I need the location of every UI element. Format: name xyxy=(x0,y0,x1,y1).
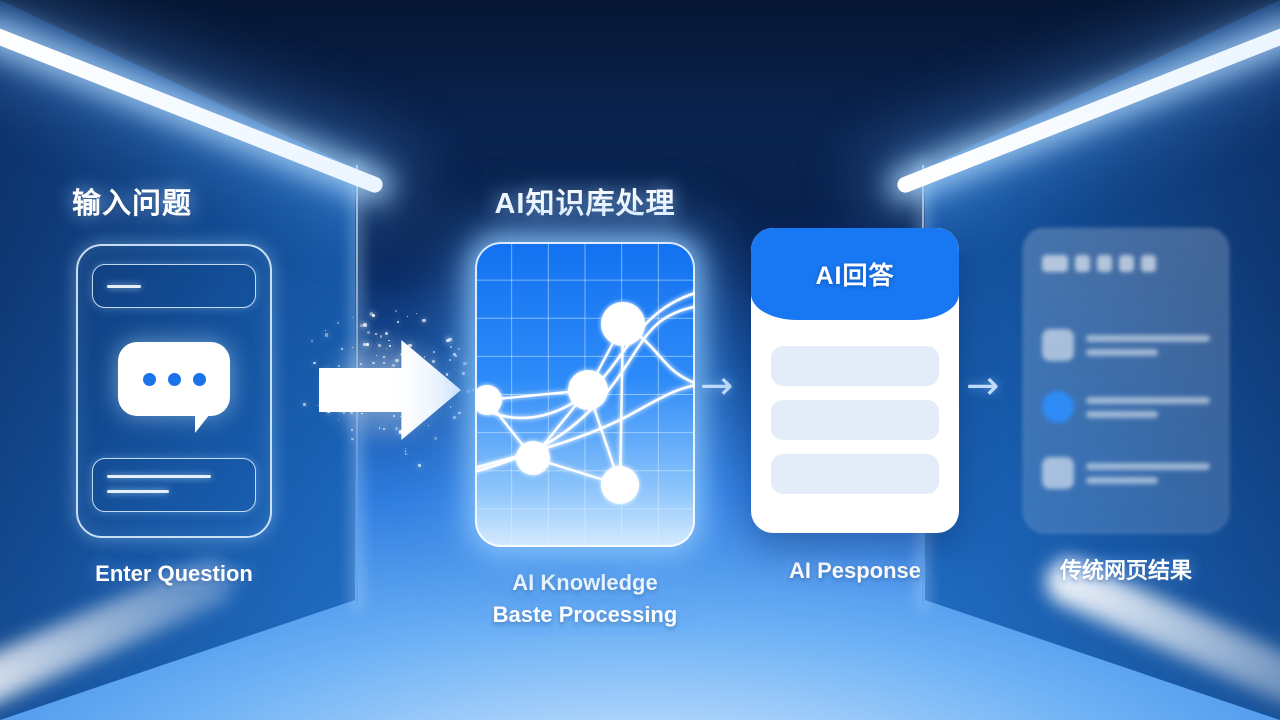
step-graph-title: AI知识库处理 xyxy=(452,180,718,222)
typing-dots xyxy=(118,342,230,416)
text-line-2 xyxy=(107,490,169,493)
typing-dot-1 xyxy=(143,373,156,386)
traditional-results-card[interactable] xyxy=(1023,228,1229,533)
typing-dot-3 xyxy=(193,373,206,386)
ai-answer-header-text: AI回答 xyxy=(815,256,894,292)
step-graph-caption: AI Knowledge Baste Processing xyxy=(452,567,718,631)
question-text-field[interactable] xyxy=(92,458,256,512)
step-traditional-results: 传统网页结果 xyxy=(1006,228,1246,587)
ai-answer-card[interactable]: AI回答 xyxy=(751,228,959,533)
search-field-top[interactable] xyxy=(92,264,256,308)
step-graph-caption-line1: AI Knowledge xyxy=(452,567,718,599)
field-placeholder-line xyxy=(107,285,141,288)
result-thumbnail-icon xyxy=(1042,391,1074,423)
diagram-stage: 输入问题 Enter Question AI知 xyxy=(0,0,1280,720)
ai-answer-row[interactable] xyxy=(771,454,939,494)
result-list-item[interactable] xyxy=(1042,391,1210,423)
step-answer-caption: AI Pesponse xyxy=(742,555,968,587)
result-thumbnail-icon xyxy=(1042,457,1074,489)
ai-answer-row-list xyxy=(771,346,939,494)
result-text-lines xyxy=(1086,397,1210,418)
step-ai-response: AI回答 AI Pesponse xyxy=(742,228,968,587)
step-graph-caption-line2: Baste Processing xyxy=(452,599,718,631)
knowledge-graph-card[interactable] xyxy=(475,242,695,547)
text-line-1 xyxy=(107,475,211,478)
result-thumbnail-icon xyxy=(1042,329,1074,361)
ai-answer-row[interactable] xyxy=(771,400,939,440)
ai-answer-row[interactable] xyxy=(771,346,939,386)
result-text-lines xyxy=(1086,463,1210,484)
flow-arrow-icon-1: → xyxy=(700,366,734,406)
typing-dot-2 xyxy=(168,373,181,386)
step-input-title: 输入问题 xyxy=(38,180,310,222)
question-input-card[interactable] xyxy=(76,244,272,538)
chat-bubble-icon xyxy=(118,342,230,416)
traditional-results-title-placeholder xyxy=(1042,255,1156,272)
main-flow-arrow-icon xyxy=(305,316,475,462)
result-text-lines xyxy=(1086,335,1210,356)
result-list-item[interactable] xyxy=(1042,329,1210,361)
flow-arrow-icon-2: → xyxy=(966,366,1000,406)
step-input-caption: Enter Question xyxy=(38,558,310,590)
step-enter-question: 输入问题 Enter Question xyxy=(38,180,310,590)
ai-answer-header: AI回答 xyxy=(751,228,959,320)
step-ai-knowledge-processing: AI知识库处理 AI Knowledge Baste Processing xyxy=(452,180,718,631)
knowledge-graph-icon xyxy=(475,242,695,547)
step-legacy-caption: 传统网页结果 xyxy=(1006,555,1246,587)
result-list-item[interactable] xyxy=(1042,457,1210,489)
